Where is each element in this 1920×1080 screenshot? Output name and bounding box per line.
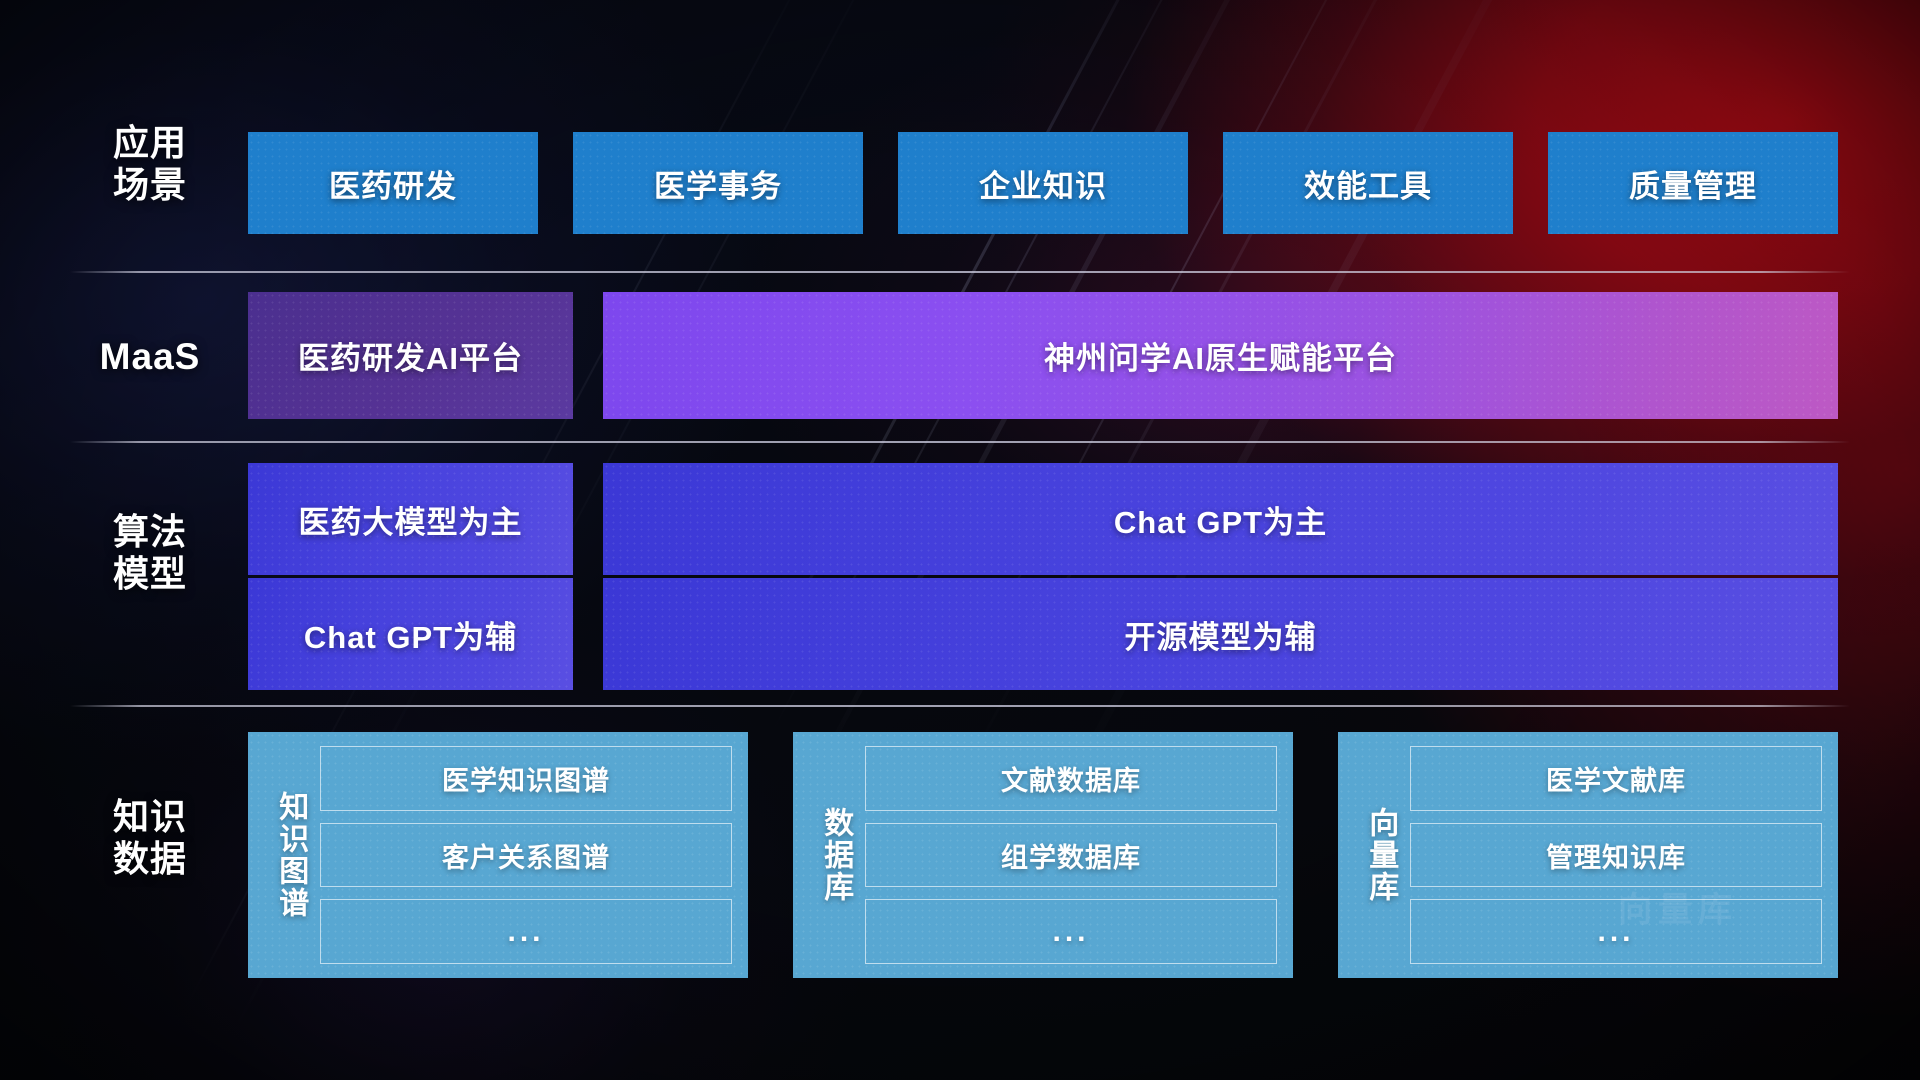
app-box-4-label: 效能工具 (1304, 161, 1432, 206)
app-box-1[interactable]: 医药研发 (248, 132, 538, 234)
app-box-5[interactable]: 质量管理 (1548, 132, 1838, 234)
knowledge-item-label: 医学知识图谱 (442, 759, 610, 798)
knowledge-group-vector-store-items: 医学文献库 管理知识库 ... (1410, 746, 1822, 964)
row-label-knowledge-data: 知识 数据 (70, 796, 230, 881)
algo-box-pharma-llm-primary-label: 医药大模型为主 (299, 497, 523, 542)
knowledge-item[interactable]: ... (1410, 899, 1822, 964)
knowledge-item[interactable]: 文献数据库 (865, 746, 1277, 811)
knowledge-group-database-items: 文献数据库 组学数据库 ... (865, 746, 1277, 964)
app-box-1-label: 医药研发 (329, 161, 457, 206)
knowledge-group-knowledge-graph-title: 知识图谱 (260, 746, 320, 964)
knowledge-item-label: 客户关系图谱 (442, 836, 610, 875)
maas-box-pharma-ai-platform[interactable]: 医药研发AI平台 (248, 292, 573, 419)
knowledge-item-label: 文献数据库 (1001, 759, 1141, 798)
knowledge-item[interactable]: ... (865, 899, 1277, 964)
app-box-3-label: 企业知识 (979, 161, 1107, 206)
knowledge-group-knowledge-graph-items: 医学知识图谱 客户关系图谱 ... (320, 746, 732, 964)
algo-box-pharma-llm-primary[interactable]: 医药大模型为主 (248, 463, 573, 575)
app-box-5-label: 质量管理 (1629, 161, 1757, 206)
knowledge-item-label: ... (507, 915, 544, 949)
divider-1 (70, 271, 1850, 273)
algo-box-chatgpt-secondary-label: Chat GPT为辅 (304, 612, 517, 657)
divider-2 (70, 441, 1850, 443)
row-label-application-scenarios: 应用 场景 (70, 122, 230, 207)
knowledge-item-label: 管理知识库 (1546, 836, 1686, 875)
row-label-maas: MaaS (70, 335, 230, 379)
maas-box-pharma-ai-platform-label: 医药研发AI平台 (298, 333, 523, 378)
divider-3 (70, 705, 1850, 707)
knowledge-item[interactable]: 医学文献库 (1410, 746, 1822, 811)
knowledge-item-label: 医学文献库 (1546, 759, 1686, 798)
knowledge-group-database-title: 数据库 (805, 746, 865, 964)
diagram-canvas: 应用 场景 医药研发 医学事务 企业知识 效能工具 质量管理 MaaS 医药研发… (0, 0, 1920, 1080)
knowledge-group-database[interactable]: 数据库 文献数据库 组学数据库 ... (793, 732, 1293, 978)
knowledge-item-label: 组学数据库 (1001, 836, 1141, 875)
algo-box-chatgpt-primary-label: Chat GPT为主 (1114, 497, 1327, 542)
knowledge-item-label: ... (1597, 915, 1634, 949)
maas-box-shenzhou-platform[interactable]: 神州问学AI原生赋能平台 (603, 292, 1838, 419)
row-label-algorithm-model: 算法 模型 (70, 511, 230, 596)
knowledge-item-label: ... (1052, 915, 1089, 949)
app-box-2-label: 医学事务 (654, 161, 782, 206)
maas-box-shenzhou-platform-label: 神州问学AI原生赋能平台 (1044, 333, 1397, 378)
algo-box-chatgpt-primary[interactable]: Chat GPT为主 (603, 463, 1838, 575)
algo-box-opensource-secondary-label: 开源模型为辅 (1125, 612, 1317, 657)
knowledge-group-knowledge-graph[interactable]: 知识图谱 医学知识图谱 客户关系图谱 ... (248, 732, 748, 978)
algo-box-chatgpt-secondary[interactable]: Chat GPT为辅 (248, 578, 573, 690)
knowledge-item[interactable]: 医学知识图谱 (320, 746, 732, 811)
knowledge-group-vector-store-title: 向量库 (1350, 746, 1410, 964)
algo-box-opensource-secondary[interactable]: 开源模型为辅 (603, 578, 1838, 690)
knowledge-item[interactable]: 客户关系图谱 (320, 823, 732, 888)
app-box-4[interactable]: 效能工具 (1223, 132, 1513, 234)
app-box-3[interactable]: 企业知识 (898, 132, 1188, 234)
knowledge-item[interactable]: 管理知识库 (1410, 823, 1822, 888)
app-box-2[interactable]: 医学事务 (573, 132, 863, 234)
knowledge-item[interactable]: ... (320, 899, 732, 964)
knowledge-item[interactable]: 组学数据库 (865, 823, 1277, 888)
knowledge-group-vector-store[interactable]: 向量库 医学文献库 管理知识库 ... 向量库 (1338, 732, 1838, 978)
